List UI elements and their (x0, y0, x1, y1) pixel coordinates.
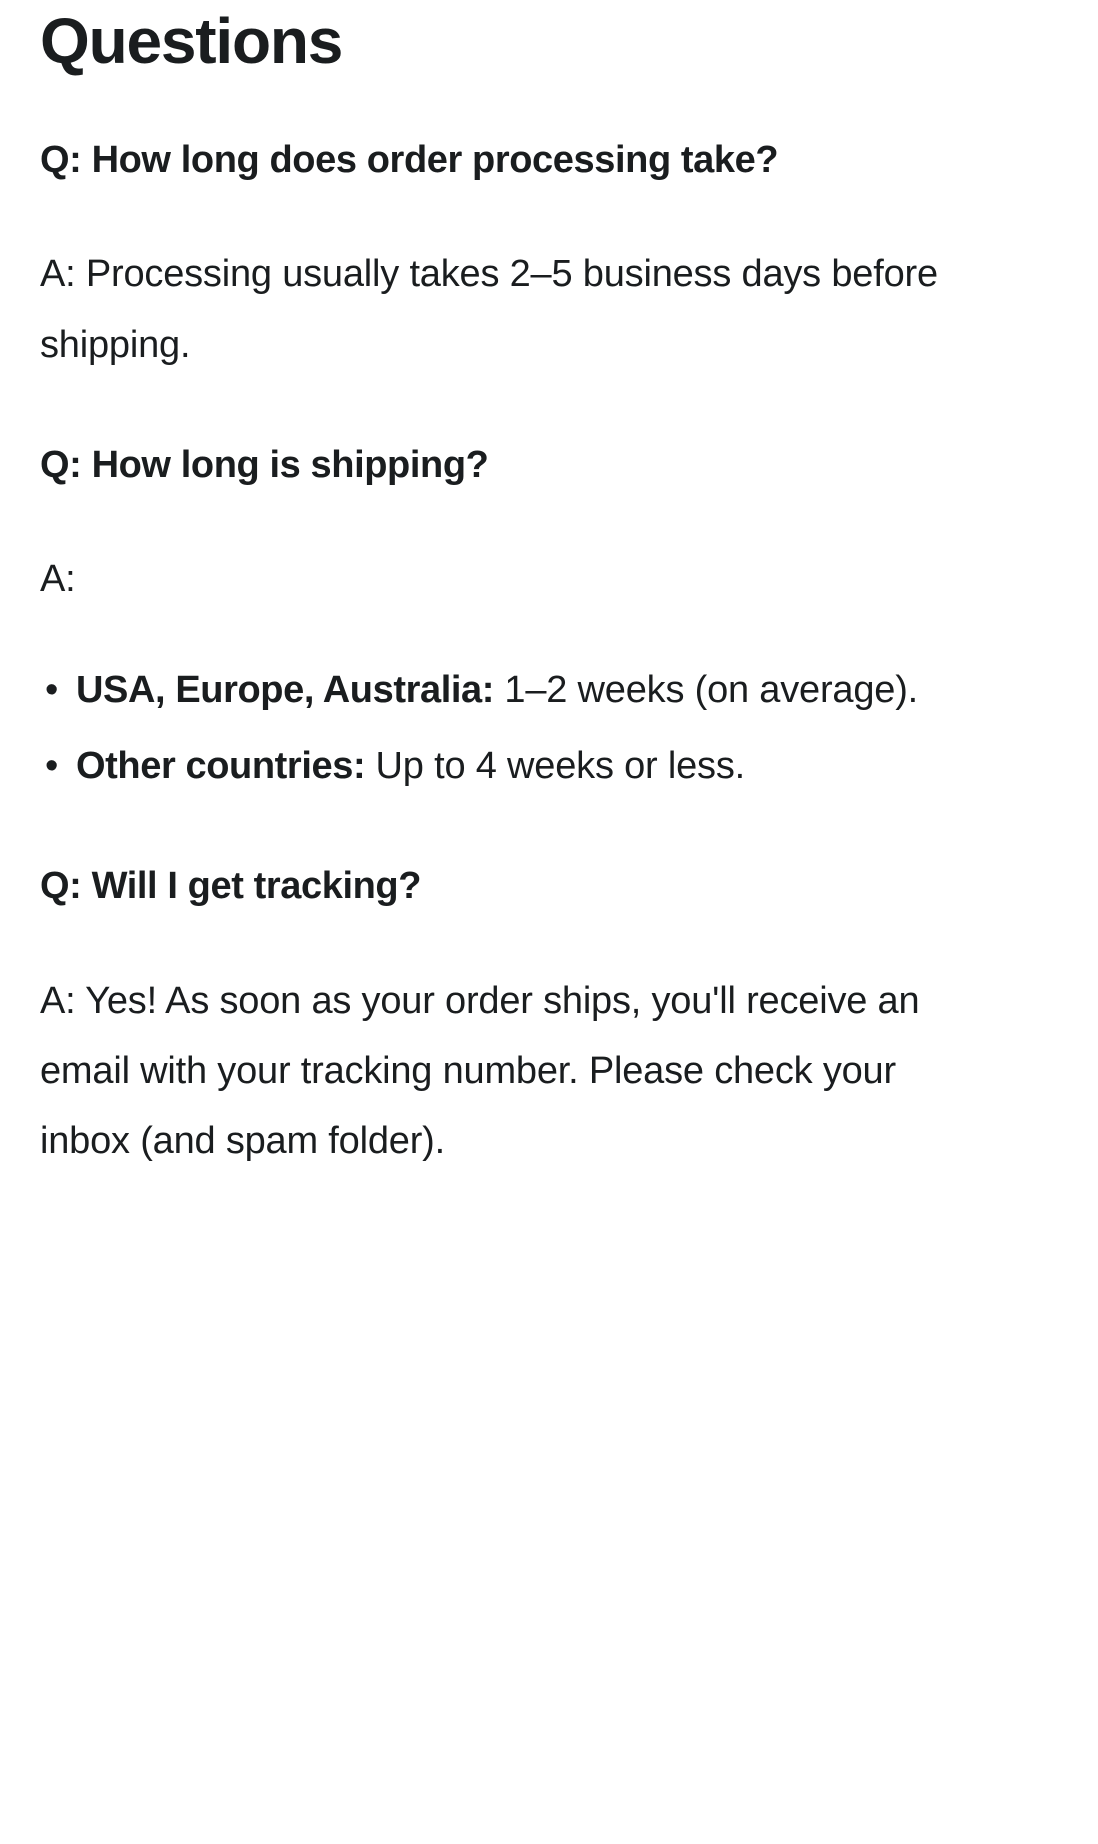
list-item: •Other countries: Up to 4 weeks or less. (40, 731, 985, 801)
list-item-value: 1–2 weeks (on average). (494, 669, 918, 711)
list-item-label: USA, Europe, Australia: (76, 669, 494, 711)
bullet-icon: • (45, 731, 58, 801)
faq-item-tracking: Q: Will I get tracking? A: Yes! As soon … (40, 851, 985, 1176)
faq-answer: A: (40, 544, 985, 614)
page-title: Questions (40, 0, 985, 75)
faq-question: Q: How long is shipping? (40, 430, 985, 500)
faq-item-shipping-time: Q: How long is shipping? A: •USA, Europe… (40, 430, 985, 801)
faq-question: Q: How long does order processing take? (40, 125, 985, 195)
faq-answer: A: Processing usually takes 2–5 business… (40, 239, 985, 380)
shipping-regions-list: •USA, Europe, Australia: 1–2 weeks (on a… (40, 655, 985, 802)
faq-question: Q: Will I get tracking? (40, 851, 985, 921)
bullet-icon: • (45, 655, 58, 725)
list-item: •USA, Europe, Australia: 1–2 weeks (on a… (40, 655, 985, 725)
faq-item-processing-time: Q: How long does order processing take? … (40, 125, 985, 380)
list-item-value: Up to 4 weeks or less. (365, 745, 745, 787)
faq-page: Questions Q: How long does order process… (0, 0, 1098, 1844)
faq-answer: A: Yes! As soon as your order ships, you… (40, 966, 985, 1177)
list-item-label: Other countries: (76, 745, 365, 787)
